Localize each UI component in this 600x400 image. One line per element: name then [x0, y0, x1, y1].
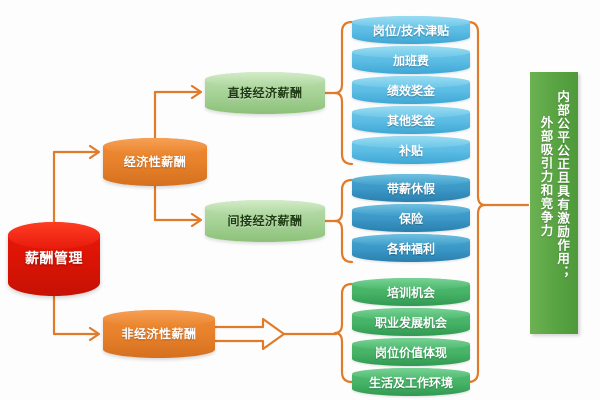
leaf-item[interactable]: 保险: [352, 204, 470, 232]
brace-group3: [335, 284, 352, 382]
leaf-item[interactable]: 培训机会: [352, 278, 470, 306]
leaf-item[interactable]: 带薪休假: [352, 174, 470, 202]
leaf-item[interactable]: 岗位价值体现: [352, 338, 470, 366]
node-direct-economic-compensation[interactable]: 直接经济薪酬: [205, 72, 325, 114]
node-non-economic-compensation[interactable]: 非经济性薪酬: [103, 310, 215, 358]
connector-layer: [0, 0, 600, 400]
leaf-item-label: 各种福利: [387, 240, 435, 257]
edge-economic-to-indirect: [155, 186, 198, 220]
leaf-item-label: 生活及工作环境: [369, 374, 453, 391]
diagram-canvas: 薪酬管理 经济性薪酬 非经济性薪酬 直接经济薪酬 间接经济薪酬 岗位/技术津贴 …: [0, 0, 600, 400]
outcome-line-1: 内部公平公正且具有激励作用；: [555, 90, 571, 279]
leaf-item-label: 补贴: [399, 142, 423, 159]
leaf-item-label: 带薪休假: [387, 180, 435, 197]
leaf-item[interactable]: 职业发展机会: [352, 308, 470, 336]
node-root-label: 薪酬管理: [25, 252, 83, 267]
leaf-item-label: 培训机会: [387, 284, 435, 301]
leaf-item-label: 保险: [399, 210, 423, 227]
node-economic-label: 经济性薪酬: [124, 156, 187, 169]
leaf-item-label: 岗位/技术津贴: [373, 22, 449, 39]
leaf-item[interactable]: 加班费: [352, 46, 470, 74]
leaf-item-label: 岗位价值体现: [375, 344, 447, 361]
edge-root-to-economic: [54, 152, 96, 222]
leaf-item-label: 职业发展机会: [375, 314, 447, 331]
arrowhead-economic-indirect: [192, 214, 201, 226]
brace-group1: [335, 22, 352, 164]
leaf-item[interactable]: 生活及工作环境: [352, 368, 470, 396]
leaf-item[interactable]: 岗位/技术津贴: [352, 16, 470, 44]
leaf-item-label: 加班费: [393, 52, 429, 69]
node-indirect-label: 间接经济薪酬: [227, 215, 302, 228]
arrowhead-root-economic: [90, 146, 99, 158]
node-non-economic-label: 非经济性薪酬: [121, 328, 196, 341]
outcome-line-2: 外部吸引力和竞争力: [538, 90, 554, 238]
leaf-item[interactable]: 绩效奖金: [352, 76, 470, 104]
brace-all-outcomes: [468, 22, 485, 382]
node-indirect-economic-compensation[interactable]: 间接经济薪酬: [205, 200, 325, 242]
edge-root-to-noneconomic: [54, 296, 96, 334]
outcome-panel[interactable]: 内部公平公正且具有激励作用； 外部吸引力和竞争力: [530, 72, 578, 334]
arrowhead-economic-direct: [192, 86, 201, 98]
leaf-item[interactable]: 补贴: [352, 136, 470, 164]
node-root-compensation-management[interactable]: 薪酬管理: [8, 222, 100, 296]
node-direct-label: 直接经济薪酬: [227, 87, 302, 100]
arrowhead-root-noneconomic: [90, 328, 99, 340]
leaf-item-label: 绩效奖金: [387, 82, 435, 99]
brace-group2: [335, 180, 352, 262]
leaf-item[interactable]: 其他奖金: [352, 106, 470, 134]
leaf-item[interactable]: 各种福利: [352, 234, 470, 262]
edge-economic-to-direct: [155, 92, 198, 138]
leaf-item-label: 其他奖金: [387, 112, 435, 129]
node-economic-compensation[interactable]: 经济性薪酬: [103, 138, 207, 186]
block-arrow-noneconomic-to-group3: [214, 319, 284, 349]
